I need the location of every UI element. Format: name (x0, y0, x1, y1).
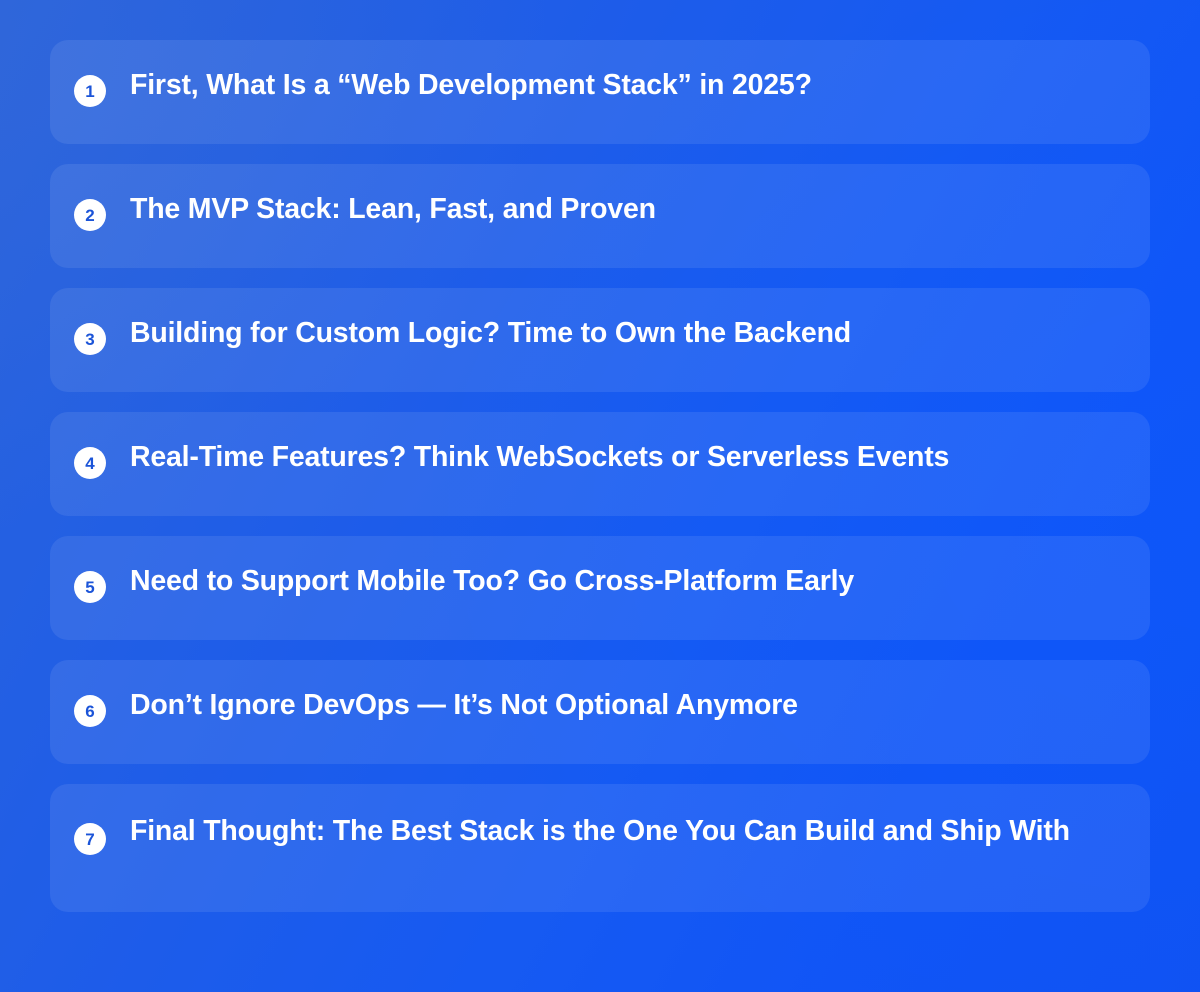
toc-number-badge: 6 (74, 695, 106, 727)
toc-number-badge: 1 (74, 75, 106, 107)
toc-number-badge: 3 (74, 323, 106, 355)
toc-item-title: Building for Custom Logic? Time to Own t… (130, 314, 1080, 353)
toc-item-2[interactable]: 2 The MVP Stack: Lean, Fast, and Proven (50, 164, 1150, 268)
toc-item-3[interactable]: 3 Building for Custom Logic? Time to Own… (50, 288, 1150, 392)
toc-number-badge: 5 (74, 571, 106, 603)
toc-item-1[interactable]: 1 First, What Is a “Web Development Stac… (50, 40, 1150, 144)
toc-item-4[interactable]: 4 Real-Time Features? Think WebSockets o… (50, 412, 1150, 516)
toc-number-badge: 4 (74, 447, 106, 479)
toc-item-title: First, What Is a “Web Development Stack”… (130, 66, 1080, 105)
toc-number-badge: 7 (74, 823, 106, 855)
toc-list: 1 First, What Is a “Web Development Stac… (50, 40, 1150, 912)
toc-item-title: Need to Support Mobile Too? Go Cross-Pla… (130, 562, 1080, 601)
toc-item-6[interactable]: 6 Don’t Ignore DevOps — It’s Not Optiona… (50, 660, 1150, 764)
toc-number-badge: 2 (74, 199, 106, 231)
toc-item-5[interactable]: 5 Need to Support Mobile Too? Go Cross-P… (50, 536, 1150, 640)
toc-item-title: Don’t Ignore DevOps — It’s Not Optional … (130, 686, 1080, 725)
toc-item-title: Real-Time Features? Think WebSockets or … (130, 438, 1080, 477)
toc-item-title: The MVP Stack: Lean, Fast, and Proven (130, 190, 1080, 229)
toc-page: 1 First, What Is a “Web Development Stac… (0, 0, 1200, 992)
toc-item-title: Final Thought: The Best Stack is the One… (130, 812, 1080, 851)
toc-item-7[interactable]: 7 Final Thought: The Best Stack is the O… (50, 784, 1150, 912)
